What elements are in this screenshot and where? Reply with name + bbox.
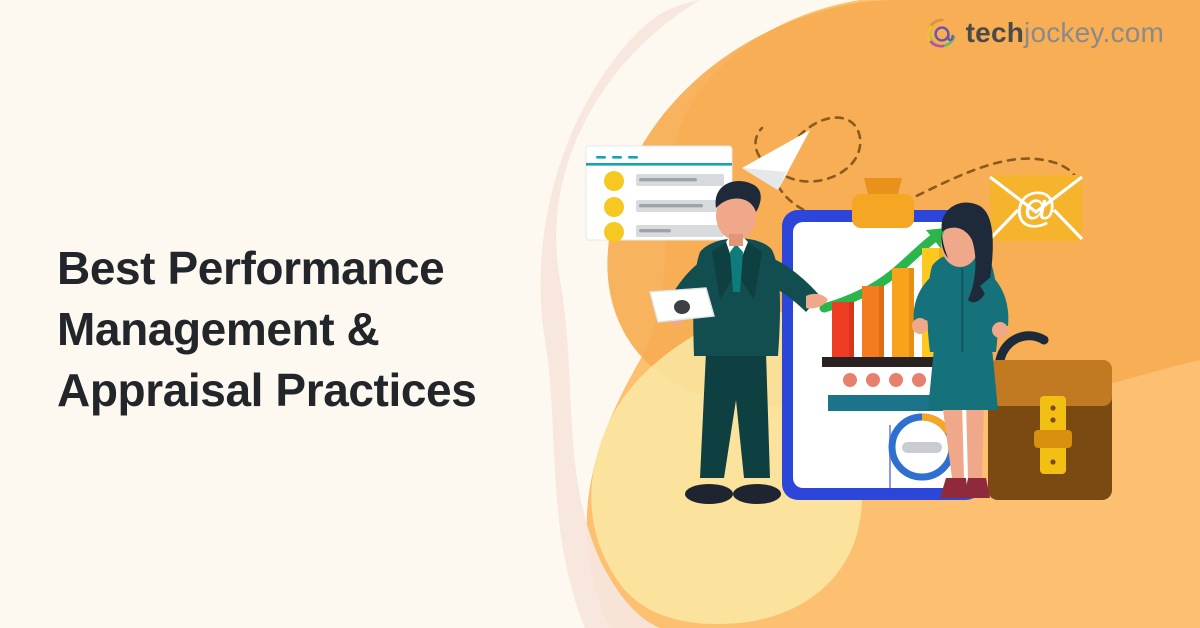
logo-wordmark: techjockey.com — [966, 16, 1164, 50]
page-title: Best Performance Management & Appraisal … — [57, 238, 527, 422]
notification-card — [586, 146, 732, 242]
logo-text-light: jockey.com — [1024, 17, 1164, 48]
banner: @ — [0, 0, 1200, 628]
email-envelope-icon: @ — [990, 175, 1082, 241]
site-logo[interactable]: techjockey.com — [925, 16, 1164, 50]
briefcase-icon — [988, 336, 1112, 500]
svg-text:@: @ — [1015, 184, 1058, 231]
logo-text-bold: tech — [966, 17, 1024, 48]
techjockey-at-swirl-icon — [925, 16, 959, 50]
